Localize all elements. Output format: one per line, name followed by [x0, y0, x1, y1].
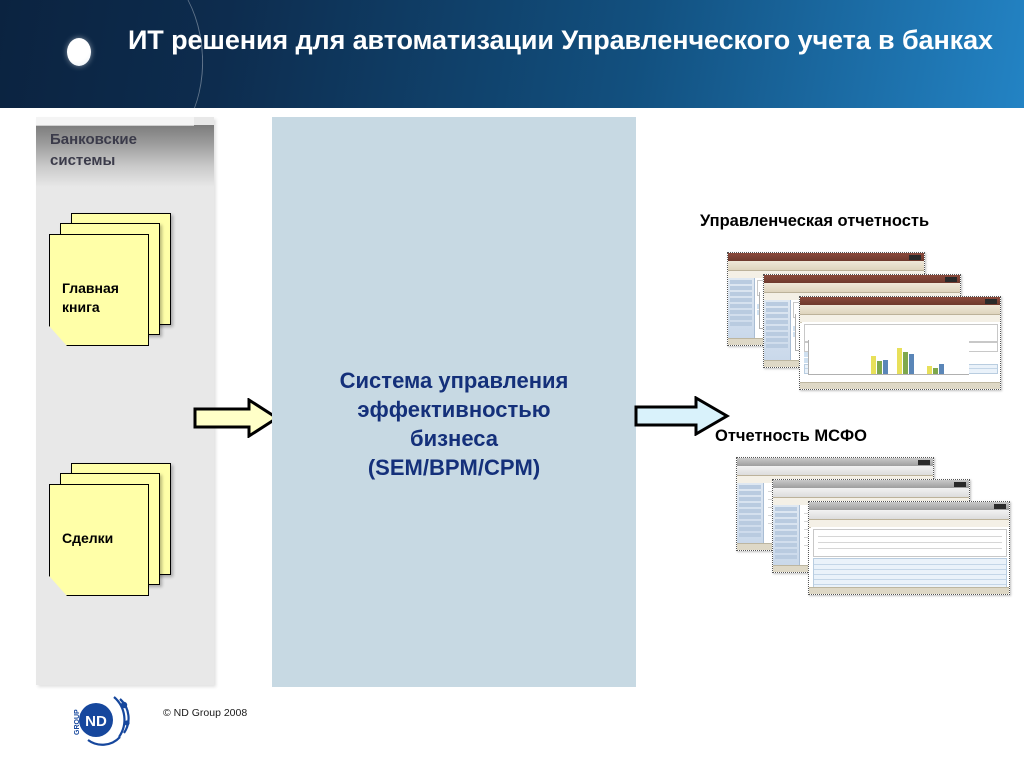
- arrow-input-icon: [193, 398, 279, 438]
- sem-line-2: эффективностью: [292, 395, 616, 424]
- thumbnail-toolbar: [728, 261, 924, 271]
- thumbnail-titlebar: [737, 458, 933, 466]
- svg-text:GROUP: GROUP: [74, 709, 81, 735]
- document-sheet-front-icon: Сделки: [49, 484, 149, 596]
- thumbnail-sidebar: [728, 278, 755, 339]
- thumbnail-window-button-icon: [985, 299, 997, 304]
- thumbnail-toolbar: [737, 466, 933, 476]
- sem-bpm-cpm-label: Система управления эффективностью бизнес…: [292, 366, 616, 482]
- ifrs-reporting-thumbnails: [736, 457, 1014, 585]
- document-label-deals: Сделки: [62, 529, 146, 548]
- thumbnail-sidebar: [773, 505, 800, 566]
- bank-systems-label: Банковские системы: [50, 129, 206, 171]
- thumbnail-window-button-icon: [994, 504, 1006, 509]
- document-sheet-front-icon: Главная книга: [49, 234, 149, 346]
- ifrs-reporting-label: Отчетность МСФО: [715, 427, 867, 446]
- thumbnail-window-button-icon: [909, 255, 921, 260]
- thumbnail-window-button-icon: [918, 460, 930, 465]
- bank-systems-panel: Банковские системы: [36, 117, 214, 685]
- thumbnail-titlebar: [764, 275, 960, 283]
- nd-group-logo-icon: ND GROUP: [70, 693, 132, 747]
- screenshot-thumbnail: [808, 501, 1010, 595]
- thumbnail-titlebar: [728, 253, 924, 261]
- copyright-text: © ND Group 2008: [163, 707, 247, 719]
- thumbnail-body: [811, 527, 1009, 588]
- thumbnail-sidebar: [764, 300, 791, 361]
- thumbnail-titlebar: [809, 502, 1009, 510]
- management-reporting-thumbnails: [727, 252, 1001, 380]
- sem-line-4: (SEM/BPM/CPM): [292, 453, 616, 482]
- document-stack-deals: Сделки: [49, 463, 175, 597]
- thumbnail-titlebar: [773, 480, 969, 488]
- thumbnail-chart: [808, 340, 969, 375]
- thumbnail-statusbar: [809, 587, 1009, 594]
- screenshot-thumbnail: [799, 296, 1001, 390]
- bank-systems-panel-topstrip: [36, 117, 194, 126]
- thumbnail-toolbar: [800, 305, 1000, 315]
- document-label-ledger: Главная книга: [62, 279, 146, 317]
- document-stack-ledger: Главная книга: [49, 213, 175, 347]
- sem-line-1: Система управления: [292, 366, 616, 395]
- sem-line-3: бизнеса: [292, 424, 616, 453]
- circle-decoration-icon: [67, 38, 91, 66]
- thumbnail-window-button-icon: [954, 482, 966, 487]
- thumbnail-body: [802, 322, 1000, 383]
- thumbnail-titlebar: [800, 297, 1000, 305]
- thumbnail-table: [813, 558, 1007, 590]
- sem-bpm-cpm-box: Система управления эффективностью бизнес…: [272, 117, 636, 687]
- thumbnail-statusbar: [800, 382, 1000, 389]
- header-banner: ИТ решения для автоматизации Управленчес…: [0, 0, 1024, 108]
- page-title: ИТ решения для автоматизации Управленчес…: [128, 24, 1008, 57]
- thumbnail-window-button-icon: [945, 277, 957, 282]
- management-reporting-label: Управленческая отчетность: [700, 212, 929, 231]
- thumbnail-toolbar: [773, 488, 969, 498]
- svg-text:ND: ND: [85, 713, 107, 730]
- thumbnail-toolbar: [764, 283, 960, 293]
- thumbnail-sidebar: [737, 483, 764, 544]
- thumbnail-toolbar: [809, 510, 1009, 520]
